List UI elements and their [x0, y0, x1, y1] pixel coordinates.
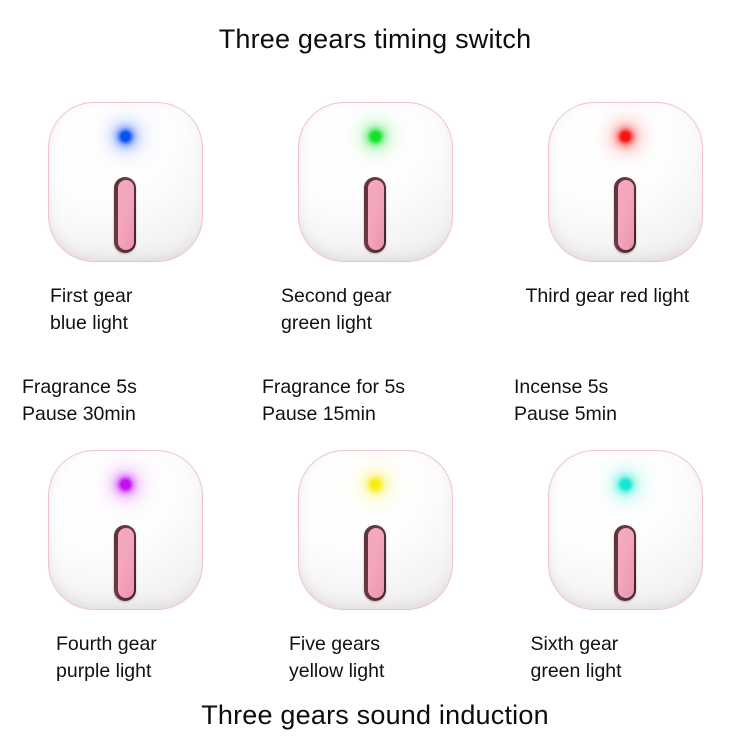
- device-body-4: [48, 450, 203, 610]
- device-cell-2: Second gear green light: [250, 102, 500, 337]
- switch-slot-inner-4: [118, 528, 134, 598]
- led-indicator-icon-6: [621, 480, 630, 489]
- device-body-6: [548, 450, 703, 610]
- product-infographic: Three gears timing switch First gear blu…: [0, 0, 750, 750]
- device-row-sound: Fourth gear purple light Five gears yell…: [0, 450, 750, 685]
- device-timing-label-3: Incense 5s Pause 5min: [500, 374, 750, 428]
- switch-slot-4[interactable]: [114, 525, 136, 601]
- device-cell-4: Fourth gear purple light: [0, 450, 250, 685]
- device-timing-label-2: Fragrance for 5s Pause 15min: [250, 374, 500, 428]
- switch-slot-inner-5: [368, 528, 384, 598]
- led-indicator-icon-1: [121, 132, 130, 141]
- switch-slot-2[interactable]: [364, 177, 386, 253]
- led-indicator-icon-2: [371, 132, 380, 141]
- device-body-1: [48, 102, 203, 262]
- switch-slot-6[interactable]: [614, 525, 636, 601]
- device-gear-label-4: Fourth gear purple light: [30, 631, 220, 685]
- device-cell-3: Third gear red light: [500, 102, 750, 337]
- device-body-5: [298, 450, 453, 610]
- device-gear-label-5: Five gears yellow light: [275, 631, 475, 685]
- device-gear-label-2: Second gear green light: [275, 283, 475, 337]
- page-title-bottom: Three gears sound induction: [0, 700, 750, 731]
- device-timing-label-1: Fragrance 5s Pause 30min: [0, 374, 250, 428]
- switch-slot-5[interactable]: [364, 525, 386, 601]
- switch-slot-inner-6: [618, 528, 634, 598]
- led-indicator-icon-5: [371, 480, 380, 489]
- device-gear-label-1: First gear blue light: [30, 283, 220, 337]
- switch-slot-3[interactable]: [614, 177, 636, 253]
- device-cell-1: First gear blue light: [0, 102, 250, 337]
- timing-description-row: Fragrance 5s Pause 30min Fragrance for 5…: [0, 374, 750, 428]
- device-gear-label-3: Third gear red light: [518, 283, 733, 310]
- led-indicator-icon-3: [621, 132, 630, 141]
- device-body-3: [548, 102, 703, 262]
- device-cell-5: Five gears yellow light: [250, 450, 500, 685]
- device-row-timing: First gear blue light Second gear green …: [0, 102, 750, 337]
- switch-slot-inner-3: [618, 180, 634, 250]
- page-title-top: Three gears timing switch: [0, 24, 750, 55]
- device-cell-6: Sixth gear green light: [500, 450, 750, 685]
- switch-slot-inner-2: [368, 180, 384, 250]
- device-body-2: [298, 102, 453, 262]
- switch-slot-inner-1: [118, 180, 134, 250]
- led-indicator-icon-4: [121, 480, 130, 489]
- device-gear-label-6: Sixth gear green light: [523, 631, 728, 685]
- switch-slot-1[interactable]: [114, 177, 136, 253]
